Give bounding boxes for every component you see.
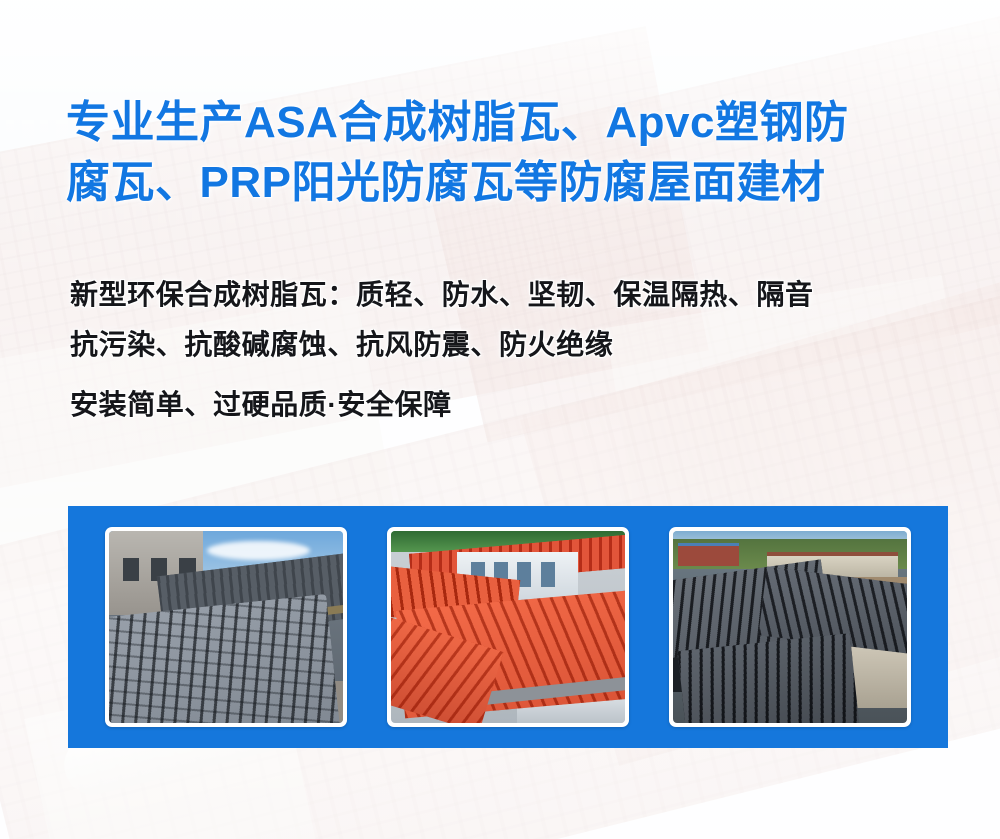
feature-line-3: 安装简单、过硬品质·安全保障: [70, 380, 960, 430]
photo-gallery: [68, 506, 948, 748]
red-resin-tile-roof-image: [391, 531, 625, 723]
feature-line-1: 新型环保合成树脂瓦：质轻、防水、坚韧、保温隔热、隔音: [70, 270, 960, 320]
photo1-cloud: [207, 541, 310, 560]
feature-list: 新型环保合成树脂瓦：质轻、防水、坚韧、保温隔热、隔音 抗污染、抗酸碱腐蚀、抗风防…: [70, 270, 960, 430]
gallery-photo-1[interactable]: [105, 527, 347, 727]
gallery-photo-2[interactable]: [387, 527, 629, 727]
photo3-brick-building: [678, 546, 739, 565]
photo2-window: [541, 562, 555, 587]
feature-line-2: 抗污染、抗酸碱腐蚀、抗风防震、防火绝缘: [70, 320, 960, 370]
gallery-photo-3[interactable]: [669, 527, 911, 727]
photo1-main-tiled-roof: [109, 594, 340, 723]
grey-resin-tile-roof-image: [109, 531, 343, 723]
charcoal-resin-tile-roof-image: [673, 531, 907, 723]
photo1-window: [123, 558, 139, 581]
page-title: 专业生产ASA合成树脂瓦、Apvc塑钢防 腐瓦、PRP阳光防腐瓦等防腐屋面建材: [66, 93, 946, 213]
promo-banner: 专业生产ASA合成树脂瓦、Apvc塑钢防 腐瓦、PRP阳光防腐瓦等防腐屋面建材 …: [0, 0, 1000, 839]
